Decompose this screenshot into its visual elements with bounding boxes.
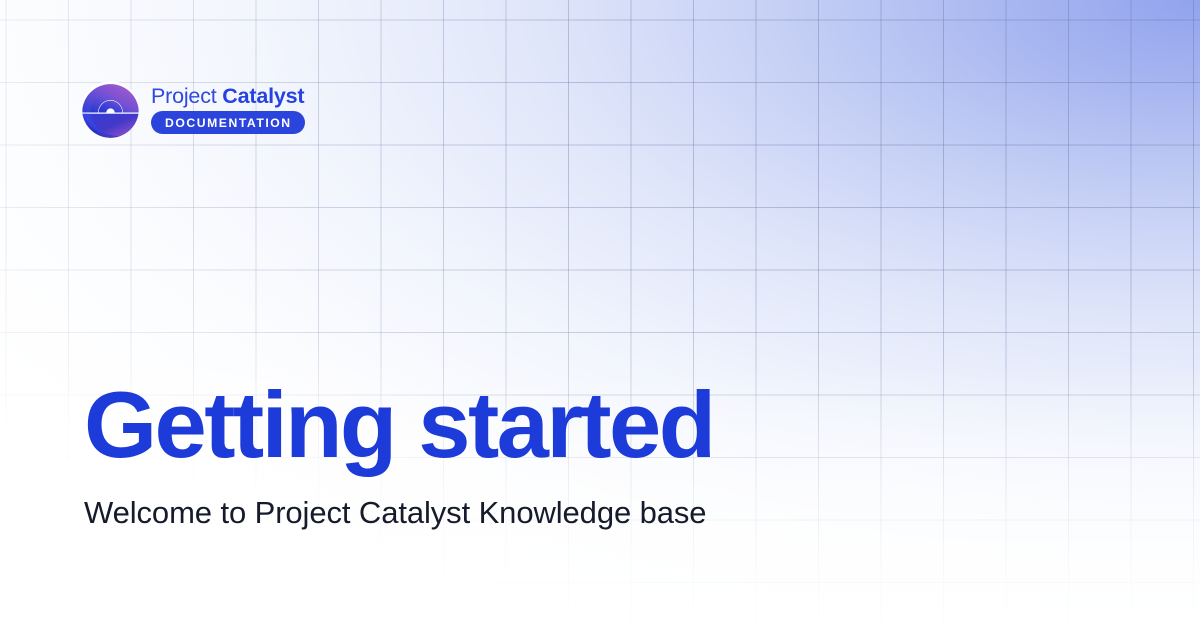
- brand-text-column: Project Catalyst DOCUMENTATION: [151, 85, 305, 135]
- wordmark-project: Project: [151, 84, 217, 108]
- documentation-badge[interactable]: DOCUMENTATION: [151, 111, 305, 134]
- brand-wordmark: Project Catalyst: [151, 86, 304, 108]
- brand-logo-lockup[interactable]: Project Catalyst DOCUMENTATION: [81, 80, 305, 139]
- project-catalyst-arch-logo-icon: [81, 80, 140, 139]
- wordmark-catalyst: Catalyst: [222, 84, 304, 108]
- hero-text-block: Getting started Welcome to Project Catal…: [84, 378, 1124, 531]
- banner-canvas: Project Catalyst DOCUMENTATION Getting s…: [0, 0, 1200, 630]
- page-subtitle: Welcome to Project Catalyst Knowledge ba…: [84, 494, 1124, 531]
- page-title: Getting started: [84, 378, 1124, 472]
